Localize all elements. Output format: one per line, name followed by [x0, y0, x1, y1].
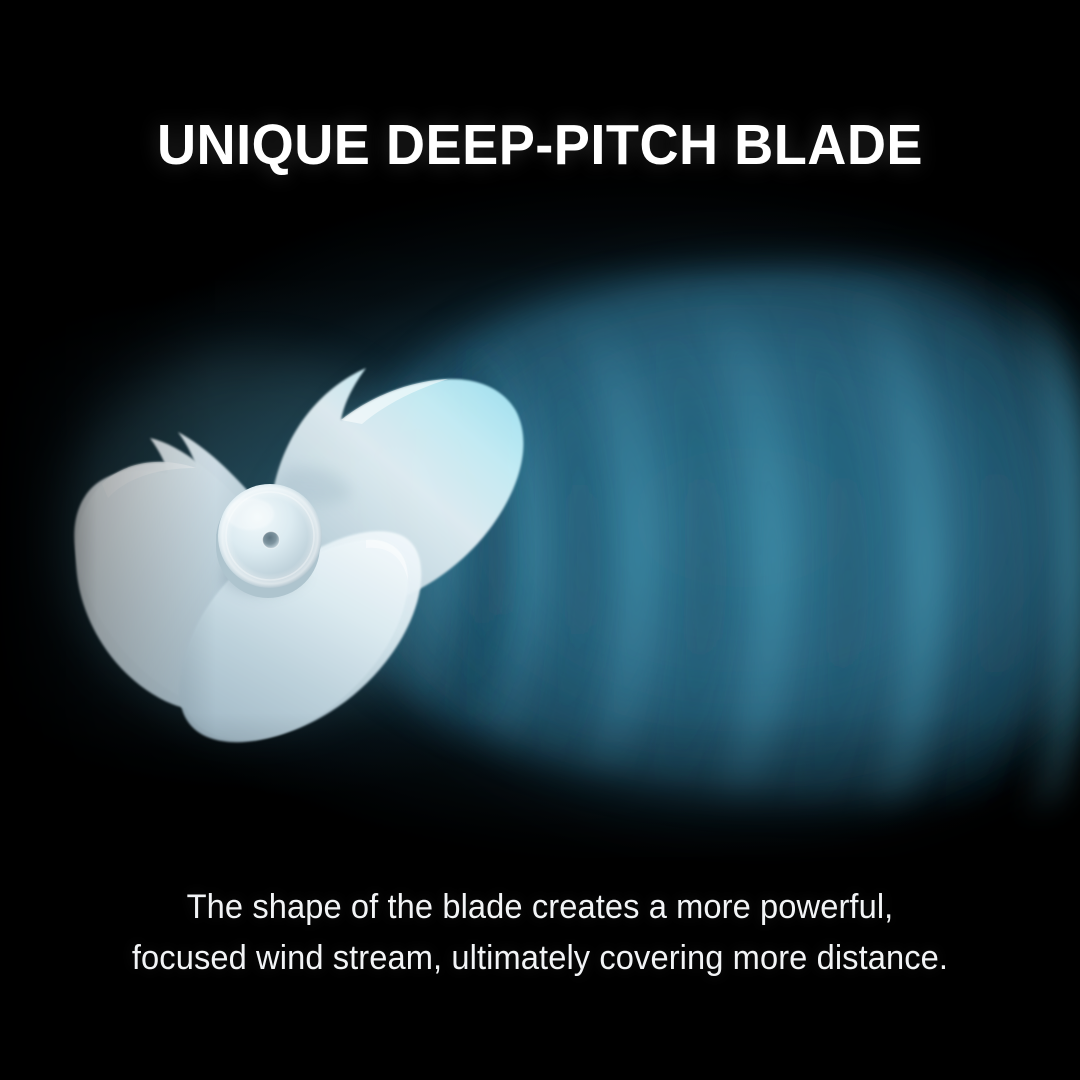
fan-hub	[216, 484, 322, 598]
promo-banner: UNIQUE DEEP-PITCH BLADE The shape of the…	[0, 0, 1080, 1080]
page-title: UNIQUE DEEP-PITCH BLADE	[27, 116, 1053, 176]
caption-block: The shape of the blade creates a more po…	[22, 882, 1059, 984]
caption-line-1: The shape of the blade creates a more po…	[22, 882, 1059, 933]
caption-line-2: focused wind stream, ultimately covering…	[22, 933, 1059, 984]
